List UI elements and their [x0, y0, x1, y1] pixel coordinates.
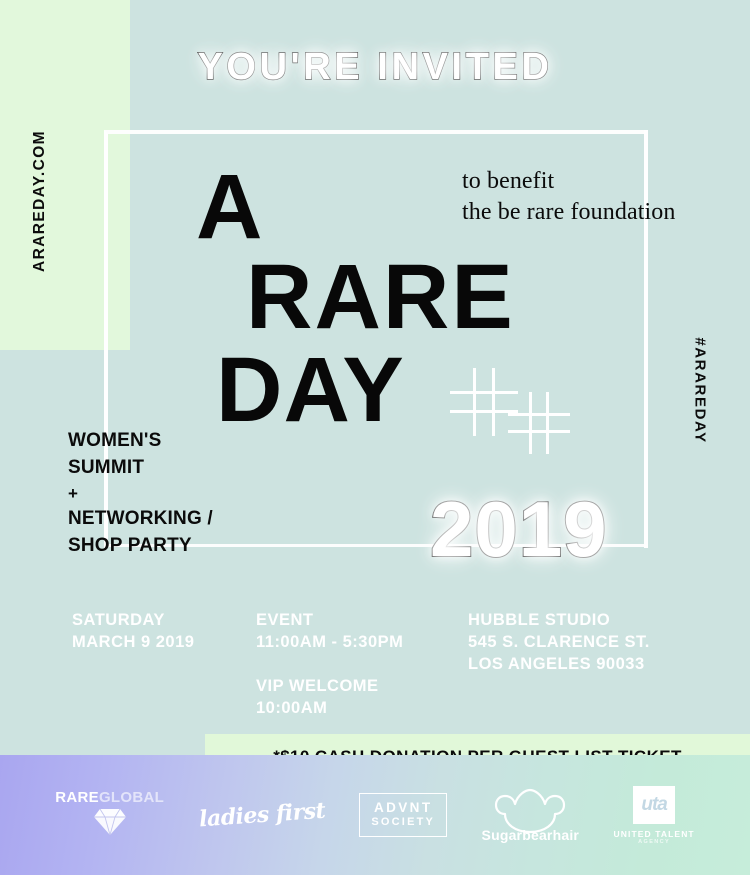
venue-street: 545 S. CLARENCE ST. — [468, 632, 650, 654]
diamond-icon — [93, 808, 127, 841]
beneficiary-line-1: to benefit — [462, 166, 675, 197]
date-line-1: SATURDAY — [72, 610, 194, 632]
subtitle-line-4: SHOP PARTY — [68, 533, 213, 560]
invited-headline: YOU'RE INVITED — [0, 46, 750, 89]
ladies-first-wordmark: ladies first — [198, 798, 326, 833]
hashtag-vertical: #ARAREDAY — [692, 291, 709, 491]
sponsor-logo-uta[interactable]: uta UNITED TALENT AGENCY — [614, 786, 695, 845]
subtitle-line-2: SUMMIT — [68, 455, 213, 482]
sugarbearhair-wordmark: Sugarbearhair — [482, 827, 580, 843]
vip-label: VIP WELCOME — [256, 676, 403, 698]
sponsor-footer: RAREGLOBAL ladies first — [0, 755, 750, 875]
sponsor-logo-row: RAREGLOBAL ladies first — [0, 755, 750, 875]
advnt-society-box: ADVNT SOCIETY — [359, 793, 447, 837]
invitation-poster: YOU'RE INVITED ARAREDAY.COM #ARAREDAY A … — [0, 0, 750, 875]
time-column-spacer — [256, 654, 403, 676]
year-display: 2019 — [430, 484, 608, 575]
uta-line-2: AGENCY — [638, 839, 670, 845]
sponsor-logo-sugarbearhair[interactable]: Sugarbearhair — [482, 788, 580, 843]
rare-global-wordmark: RAREGLOBAL — [55, 789, 164, 806]
vip-time: 10:00AM — [256, 698, 403, 720]
beneficiary-line-2: the be rare foundation — [462, 197, 675, 228]
subtitle-plus: + — [68, 482, 213, 506]
venue-name: HUBBLE STUDIO — [468, 610, 650, 632]
rare-global-light: GLOBAL — [99, 789, 164, 806]
sponsor-logo-ladies-first[interactable]: ladies first — [199, 802, 325, 828]
sponsor-logo-rare-global[interactable]: RAREGLOBAL — [55, 789, 164, 841]
advnt-line-2: SOCIETY — [371, 816, 435, 829]
uta-mark-icon: uta — [633, 786, 675, 824]
detail-venue-column: HUBBLE STUDIO 545 S. CLARENCE ST. LOS AN… — [468, 610, 650, 676]
detail-time-column: EVENT 11:00AM - 5:30PM VIP WELCOME 10:00… — [256, 610, 403, 720]
time-range: 11:00AM - 5:30PM — [256, 632, 403, 654]
advnt-line-1: ADVNT — [371, 800, 435, 816]
beneficiary-note: to benefit the be rare foundation — [462, 166, 675, 227]
uta-line-1: UNITED TALENT — [614, 829, 695, 839]
time-label: EVENT — [256, 610, 403, 632]
event-subtitle: WOMEN'S SUMMIT + NETWORKING / SHOP PARTY — [68, 428, 213, 560]
rare-global-bold: RARE — [55, 789, 99, 806]
detail-date-column: SATURDAY MARCH 9 2019 — [72, 610, 194, 654]
website-url-vertical[interactable]: ARAREDAY.COM — [31, 101, 49, 301]
subtitle-line-3: NETWORKING / — [68, 506, 213, 533]
date-line-2: MARCH 9 2019 — [72, 632, 194, 654]
sponsor-logo-advnt-society[interactable]: ADVNT SOCIETY — [359, 793, 447, 837]
subtitle-line-1: WOMEN'S — [68, 428, 213, 455]
venue-city: LOS ANGELES 90033 — [468, 654, 650, 676]
